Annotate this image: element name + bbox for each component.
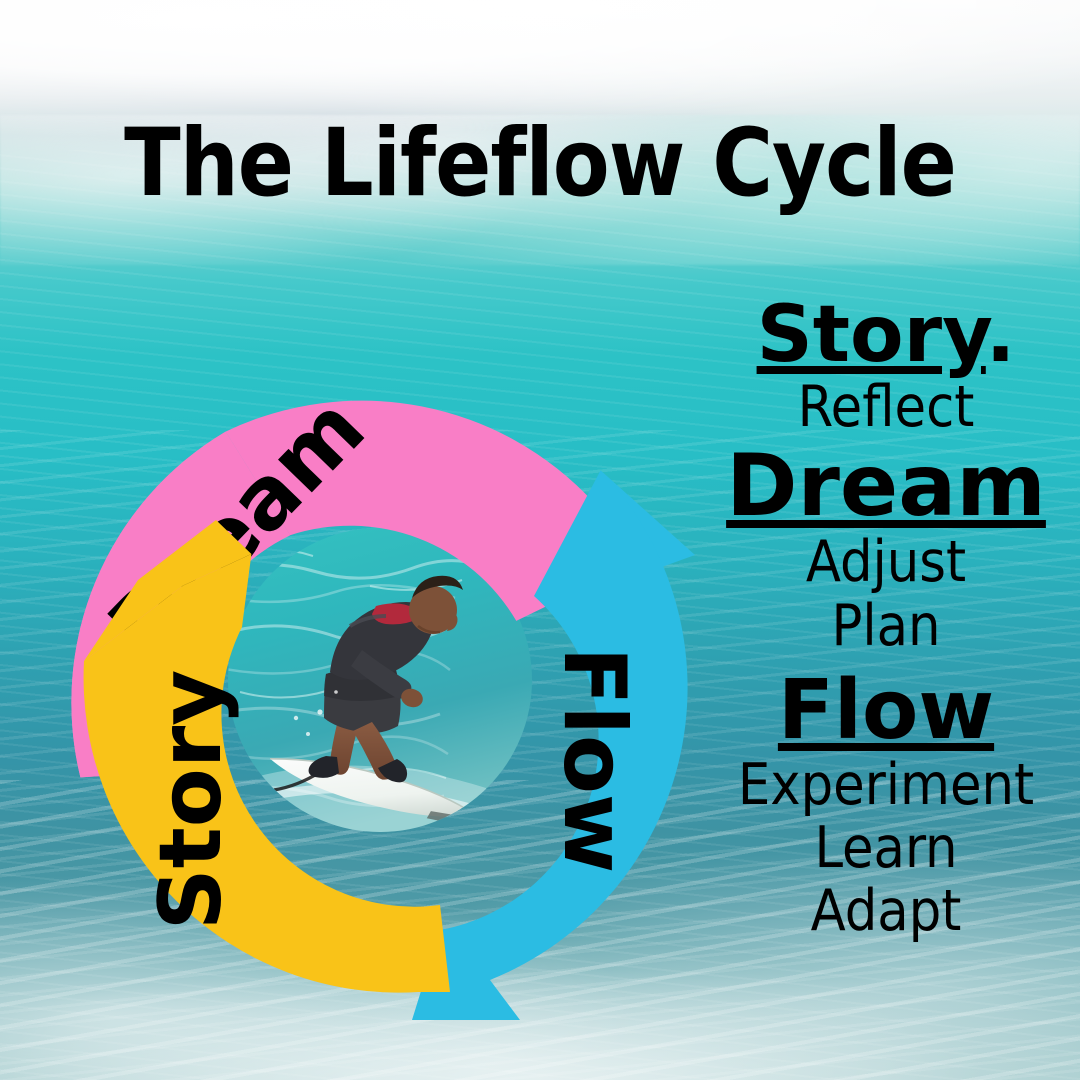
legend-heading-flow: Flow [700, 670, 1072, 752]
legend-item-adapt: Adapt [700, 882, 1072, 941]
cycle-label-flow: Flow [544, 647, 644, 874]
legend-heading-flow-text: Flow [778, 663, 994, 758]
poster-canvas: The Lifeflow Cycle [0, 0, 1080, 1080]
cycle-label-story: Story [141, 670, 241, 931]
page-title: The Lifeflow Cycle [11, 116, 1069, 212]
legend-heading-story: Story. [700, 296, 1072, 374]
legend-heading-dream: Dream [700, 443, 1072, 529]
legend-item-adjust: Adjust [700, 533, 1072, 592]
legend-column: Story. Reflect Dream Adjust Plan Flow Ex… [700, 296, 1072, 946]
legend-heading-story-text: Story [757, 290, 986, 380]
legend-item-experiment: Experiment [700, 756, 1072, 815]
legend-item-learn: Learn [700, 819, 1072, 878]
legend-item-plan: Plan [700, 597, 1072, 656]
legend-heading-dream-text: Dream [726, 436, 1046, 536]
legend-item-reflect: Reflect [700, 378, 1072, 437]
lifeflow-cycle-diagram: Dream Flow Story [20, 320, 740, 1040]
legend-heading-story-period: . [986, 290, 1016, 380]
